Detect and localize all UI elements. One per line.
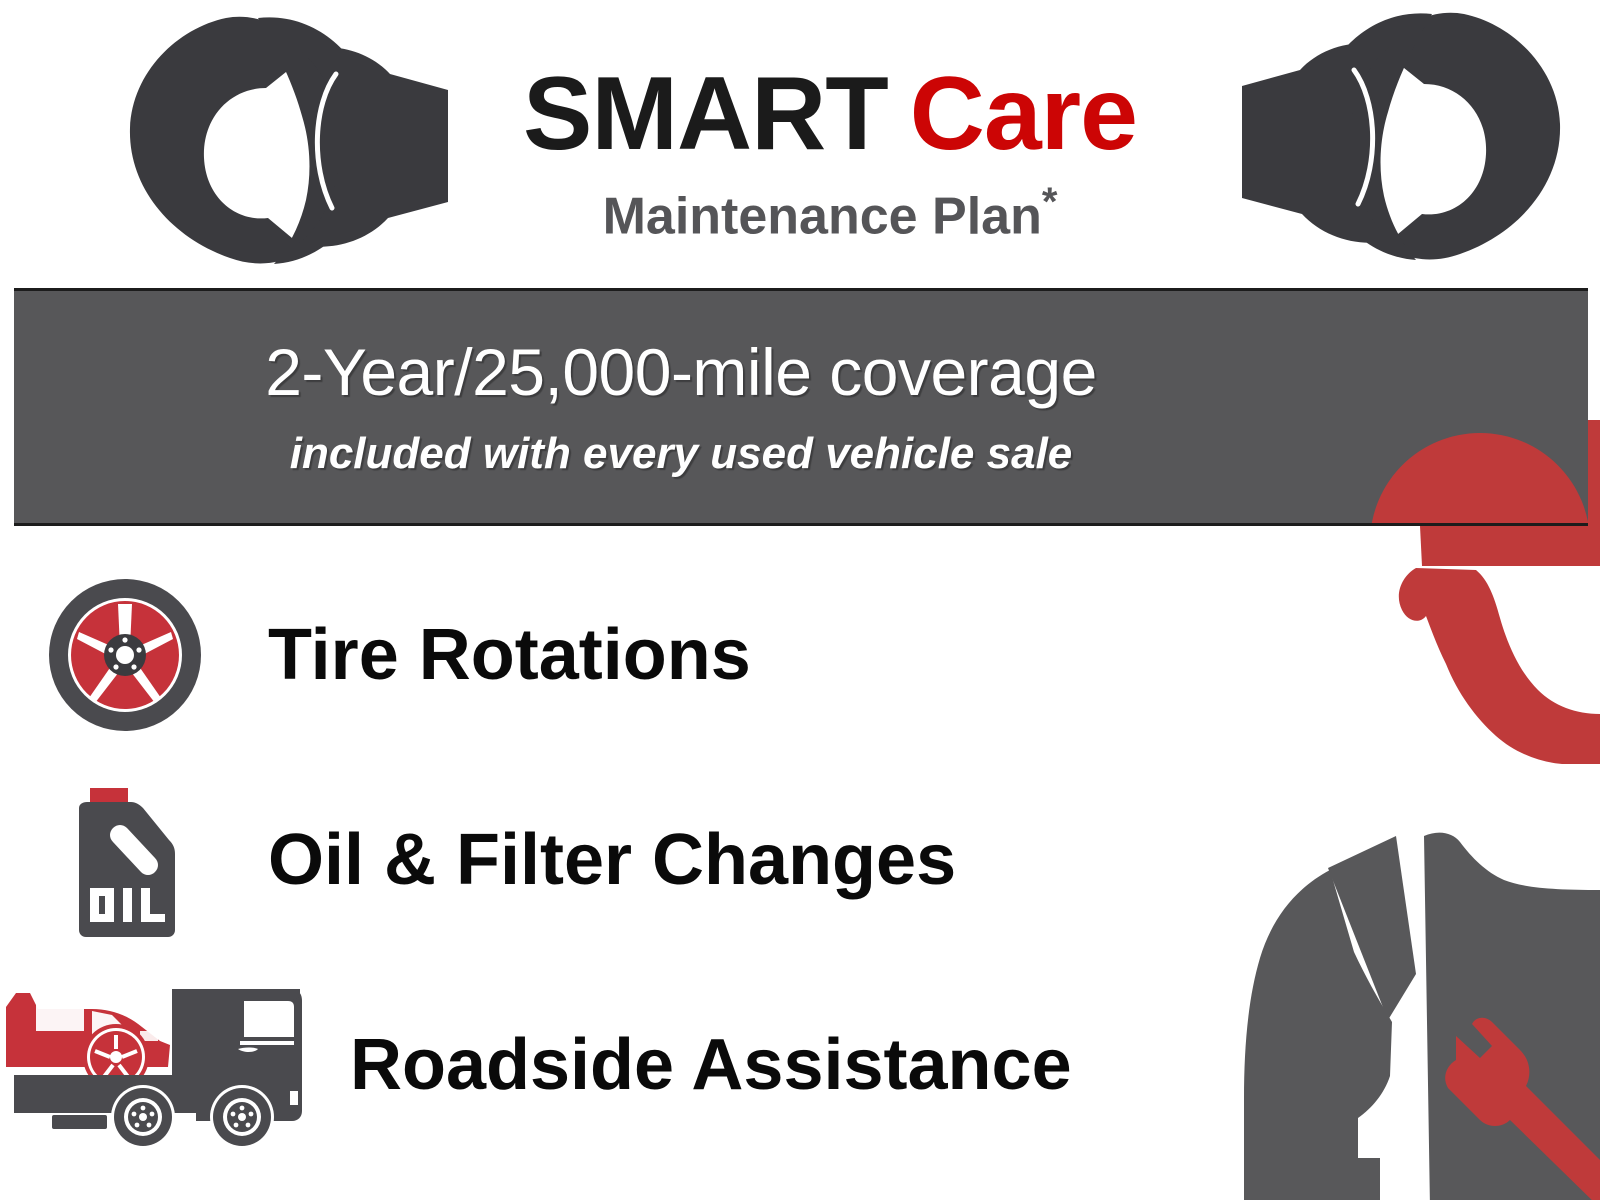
logo-title-care: Care (910, 56, 1137, 172)
coverage-subline: included with every used vehicle sale (290, 429, 1073, 479)
logo-title-smart: SMART (523, 56, 888, 172)
benefit-label-roadside-assistance: Roadside Assistance (350, 1026, 1072, 1104)
benefit-item-roadside-assistance: Roadside Assistance (0, 965, 1180, 1165)
benefits-list: Tire Rotations (0, 545, 1180, 1185)
wrench-icon-left (118, 12, 448, 272)
tire-wheel-icon (0, 563, 250, 748)
logo-wordmark: SMARTCare Maintenance Plan* (430, 62, 1230, 262)
coverage-headline: 2-Year/25,000-mile coverage (265, 335, 1097, 409)
logo-subtitle-asterisk: * (1042, 180, 1058, 224)
poster-canvas: SMARTCare Maintenance Plan* 2-Year/25,00… (0, 0, 1600, 1200)
benefit-item-tire-rotations: Tire Rotations (0, 555, 1180, 755)
logo-title: SMARTCare (430, 62, 1230, 166)
logo-subtitle-text: Maintenance Plan (603, 187, 1042, 245)
benefit-item-oil-filter-changes: Oil & Filter Changes (0, 760, 1180, 960)
wrench-icon-right (1242, 8, 1582, 270)
benefit-label-oil-filter-changes: Oil & Filter Changes (268, 821, 956, 899)
tow-truck-icon (0, 965, 340, 1165)
coverage-banner-content: 2-Year/25,000-mile coverage included wit… (14, 291, 1588, 523)
mechanic-with-wrench-icon (1180, 418, 1600, 1200)
benefit-label-tire-rotations: Tire Rotations (268, 616, 751, 694)
logo-subtitle: Maintenance Plan* (430, 174, 1230, 244)
coverage-banner: 2-Year/25,000-mile coverage included wit… (14, 288, 1588, 526)
oil-bottle-icon (0, 768, 250, 953)
logo-header: SMARTCare Maintenance Plan* (0, 0, 1600, 280)
